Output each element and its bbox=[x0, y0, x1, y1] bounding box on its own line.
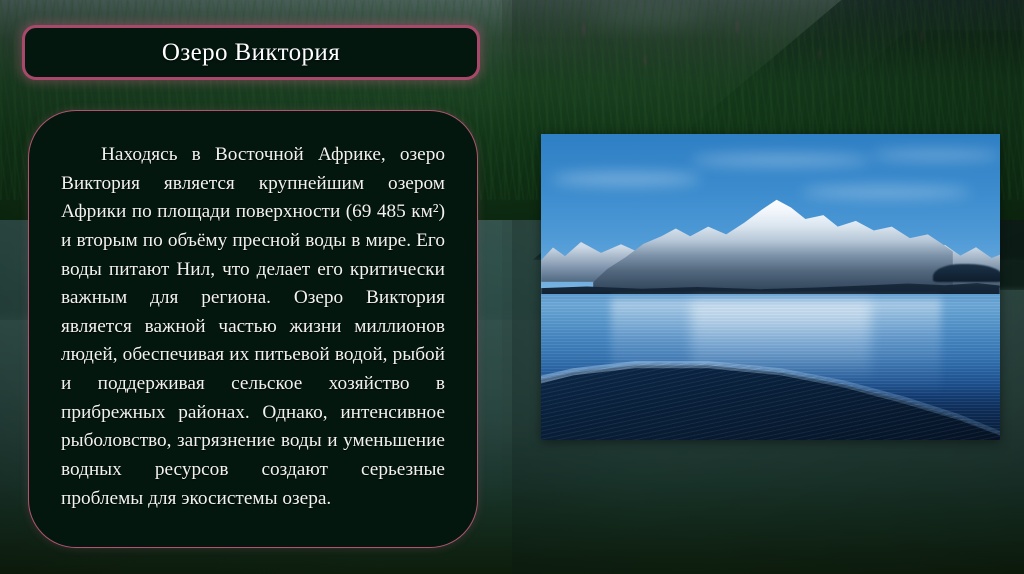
slide-body-text: Находясь в Восточной Африке, озеро Викто… bbox=[61, 141, 445, 513]
slide-body-plate: Находясь в Восточной Африке, озеро Викто… bbox=[28, 110, 478, 548]
photo-cloud bbox=[551, 172, 701, 186]
presentation-slide: Озеро Виктория Находясь в Восточной Афри… bbox=[0, 0, 1024, 574]
page-title: Озеро Виктория bbox=[162, 39, 340, 67]
photo-cloud bbox=[801, 186, 971, 198]
slide-title-plate: Озеро Виктория bbox=[22, 25, 480, 80]
photo-island bbox=[933, 264, 1000, 282]
photo-cloud bbox=[691, 154, 871, 166]
lake-photo bbox=[541, 134, 1000, 440]
photo-cloud bbox=[871, 150, 1000, 160]
